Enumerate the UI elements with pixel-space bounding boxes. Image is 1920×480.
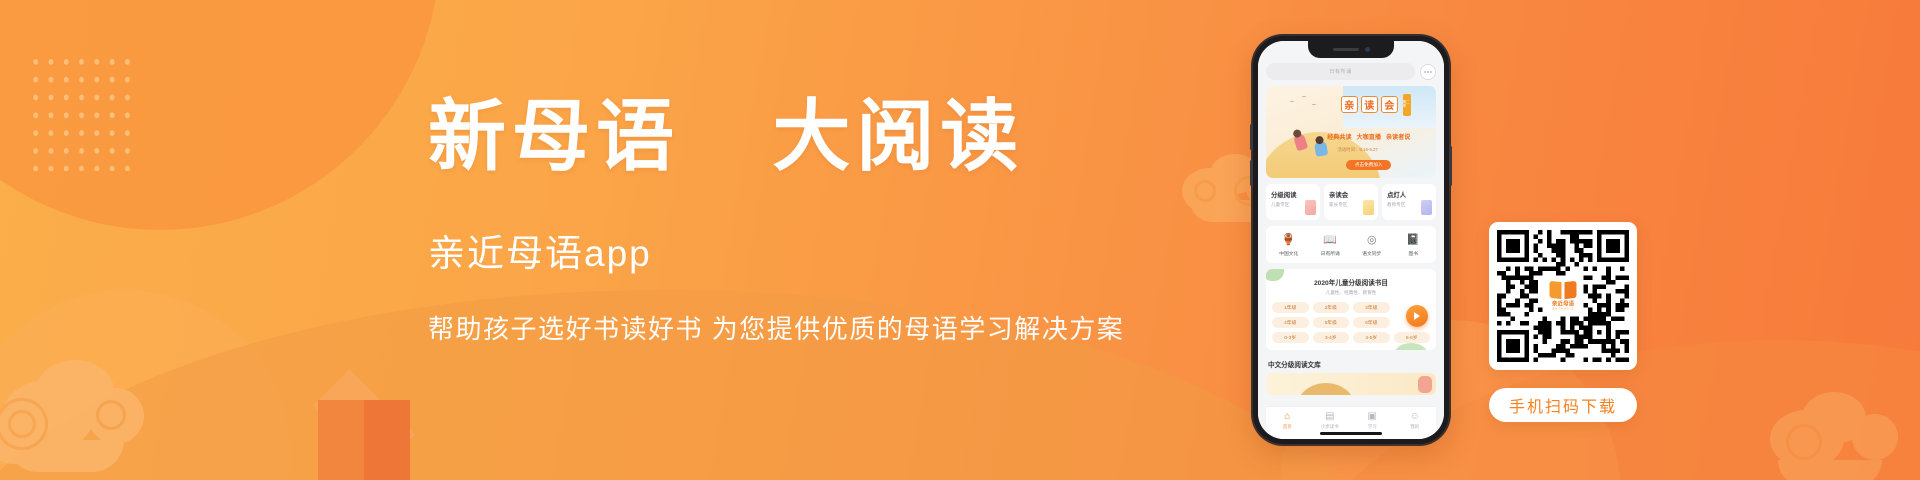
decorative-leaf-icon — [1394, 343, 1428, 350]
search-row: 日有所诵 — [1266, 63, 1436, 80]
study-icon: ▣ — [1368, 412, 1377, 422]
category-cards: 分级阅读 儿童专区 亲读会 家长专区 点灯人 教师专区 — [1266, 184, 1436, 220]
phone-mockup: 日有所诵 亲 读 会 — [1253, 36, 1449, 444]
app-name-subtitle: 亲近母语app — [428, 223, 1228, 277]
book-logo-icon — [1550, 281, 1577, 298]
tab-label: 我的 — [1410, 424, 1419, 430]
shelf-arc — [1297, 383, 1355, 395]
grade-chip[interactable]: 3年级 — [1353, 302, 1390, 313]
quick-link-culture[interactable]: 🏺 中国文化 — [1268, 233, 1310, 257]
grade-chip[interactable]: 6年级 — [1353, 317, 1390, 328]
age-chip[interactable]: 5-6岁 — [1394, 332, 1431, 343]
decorative-circle-bottom-left — [0, 290, 290, 480]
quick-link-label: 日有所诵 — [1321, 250, 1340, 257]
culture-icon: 🏺 — [1282, 233, 1296, 247]
dot-grid-pattern — [28, 53, 136, 171]
quick-link-sync[interactable]: ◎ 语文同步 — [1351, 233, 1393, 257]
book-icon — [1363, 200, 1374, 215]
promo-title: 亲 读 会 — [1341, 96, 1398, 113]
grade-chip[interactable]: 5年级 — [1313, 317, 1350, 328]
search-input[interactable]: 日有所诵 — [1266, 63, 1415, 80]
promo-feature: 经典共读 — [1327, 132, 1351, 141]
reading-icon: ▤ — [1325, 412, 1334, 422]
more-options-icon[interactable] — [1420, 64, 1436, 80]
download-button[interactable]: 手机扫码下载 — [1489, 388, 1637, 422]
grade-chips: 1年级 2年级 3年级 4年级 5年级 6年级 0-3岁 3-4岁 4-5岁 5… — [1272, 302, 1430, 343]
promo-title-char: 亲 — [1341, 96, 1358, 113]
promo-banner: 新母语 大阅读 亲近母语app 帮助孩子选好书读好书 为您提供优质的母语学习解决… — [0, 0, 1920, 480]
play-icon — [1414, 312, 1420, 320]
tab-reading[interactable]: ▤ 小步读书 — [1309, 412, 1352, 430]
category-card[interactable]: 亲读会 家长专区 — [1324, 184, 1378, 220]
promo-date: 活动时间：9.16-9.27 — [1337, 147, 1378, 153]
home-icon: ⌂ — [1284, 412, 1290, 422]
banner-copy: 新母语 大阅读 亲近母语app 帮助孩子选好书读好书 为您提供优质的母语学习解决… — [428, 96, 1228, 346]
quick-link-books[interactable]: 📓 图书 — [1393, 233, 1435, 257]
bird-icon — [1312, 104, 1316, 106]
app-content: 日有所诵 亲 读 会 — [1258, 41, 1444, 439]
decorative-cube — [300, 370, 428, 480]
card-title: 亲读会 — [1329, 190, 1373, 199]
phone-notch — [1308, 41, 1394, 58]
library-section: 中文分级阅读文库 — [1266, 357, 1436, 395]
page-title: 新母语 大阅读 — [428, 96, 1228, 177]
auspicious-cloud-icon-bottom-right — [1760, 388, 1920, 480]
book-icon — [1305, 200, 1316, 215]
promo-cta-button[interactable]: 点击免费加入 — [1346, 160, 1392, 170]
promo-card[interactable]: 亲 读 会 第二季 经典共读 大咖直播 亲读者说 活动时间：9.16-9.27 … — [1266, 86, 1436, 178]
quick-link-label: 中国文化 — [1279, 250, 1298, 257]
phone-volume-up-button — [1250, 124, 1253, 150]
booklist-subtitle: 儿童性、经典性、教育性 — [1272, 290, 1430, 296]
grade-chip[interactable]: 4年级 — [1272, 317, 1309, 328]
category-card[interactable]: 分级阅读 儿童专区 — [1266, 184, 1320, 220]
category-card[interactable]: 点灯人 教师专区 — [1382, 184, 1436, 220]
logo-pinyin: QIN JIN MU YU — [1552, 308, 1574, 311]
banner-tagline: 帮助孩子选好书读好书 为您提供优质的母语学习解决方案 — [428, 309, 1228, 346]
tab-study[interactable]: ▣ 学习 — [1351, 412, 1394, 430]
phone-power-button — [1449, 146, 1452, 186]
books-icon: 📓 — [1406, 233, 1420, 247]
promo-feature: 大咖直播 — [1357, 132, 1381, 141]
card-title: 点灯人 — [1387, 190, 1431, 199]
headline-part-1: 新母语 — [428, 91, 680, 182]
recite-icon: 📖 — [1323, 233, 1337, 247]
person-icon — [1421, 200, 1432, 215]
headline-part-2: 大阅读 — [772, 91, 1024, 182]
grade-chip[interactable]: 2年级 — [1313, 302, 1350, 313]
tab-label: 小步读书 — [1321, 424, 1339, 430]
quick-link-recite[interactable]: 📖 日有所诵 — [1310, 233, 1352, 257]
library-title: 中文分级阅读文库 — [1266, 357, 1436, 373]
booklist-section: 2020年儿童分级阅读书目 儿童性、经典性、教育性 1年级 2年级 3年级 4年… — [1266, 269, 1436, 350]
play-video-button[interactable] — [1406, 305, 1428, 327]
card-title: 分级阅读 — [1271, 190, 1315, 199]
bird-icon — [1302, 96, 1306, 98]
quick-link-label: 图书 — [1408, 250, 1418, 257]
promo-title-char: 读 — [1361, 96, 1378, 113]
tab-home[interactable]: ⌂ 首页 — [1266, 412, 1309, 430]
sync-icon: ◎ — [1365, 233, 1379, 247]
age-chip[interactable]: 3-4岁 — [1313, 332, 1350, 343]
phone-volume-down-button — [1250, 160, 1253, 186]
camera-icon — [1365, 47, 1370, 52]
age-chip[interactable]: 4-5岁 — [1353, 332, 1390, 343]
promo-title-char: 会 — [1381, 96, 1398, 113]
promo-features: 经典共读 大咖直播 亲读者说 — [1327, 132, 1410, 141]
tab-label: 学习 — [1368, 424, 1377, 430]
age-chip[interactable]: 0-3岁 — [1272, 332, 1309, 343]
tab-label: 首页 — [1283, 424, 1292, 430]
home-indicator — [1320, 432, 1382, 435]
bird-icon — [1290, 101, 1294, 103]
speaker-icon — [1333, 48, 1359, 51]
auspicious-cloud-icon — [0, 354, 214, 474]
promo-ribbon: 第二季 — [1403, 94, 1411, 116]
shelf-book — [1418, 376, 1432, 393]
booklist-title: 2020年儿童分级阅读书目 — [1272, 277, 1430, 287]
promo-feature: 亲读者说 — [1386, 132, 1410, 141]
phone-screen: 日有所诵 亲 读 会 — [1258, 41, 1444, 439]
qr-card: 亲近母语 QIN JIN MU YU — [1489, 222, 1637, 370]
qr-block: 亲近母语 QIN JIN MU YU 手机扫码下载 — [1489, 222, 1637, 422]
decorative-circle-top — [0, 0, 440, 230]
quick-link-label: 语文同步 — [1362, 250, 1381, 257]
qr-center-logo: 亲近母语 QIN JIN MU YU — [1544, 277, 1583, 316]
tab-profile[interactable]: ☺ 我的 — [1394, 412, 1437, 430]
grade-chip[interactable]: 1年级 — [1272, 302, 1309, 313]
quick-links-row: 🏺 中国文化 📖 日有所诵 ◎ 语文同步 📓 图书 — [1266, 226, 1436, 263]
library-shelf[interactable] — [1266, 373, 1436, 395]
profile-icon: ☺ — [1410, 412, 1420, 422]
